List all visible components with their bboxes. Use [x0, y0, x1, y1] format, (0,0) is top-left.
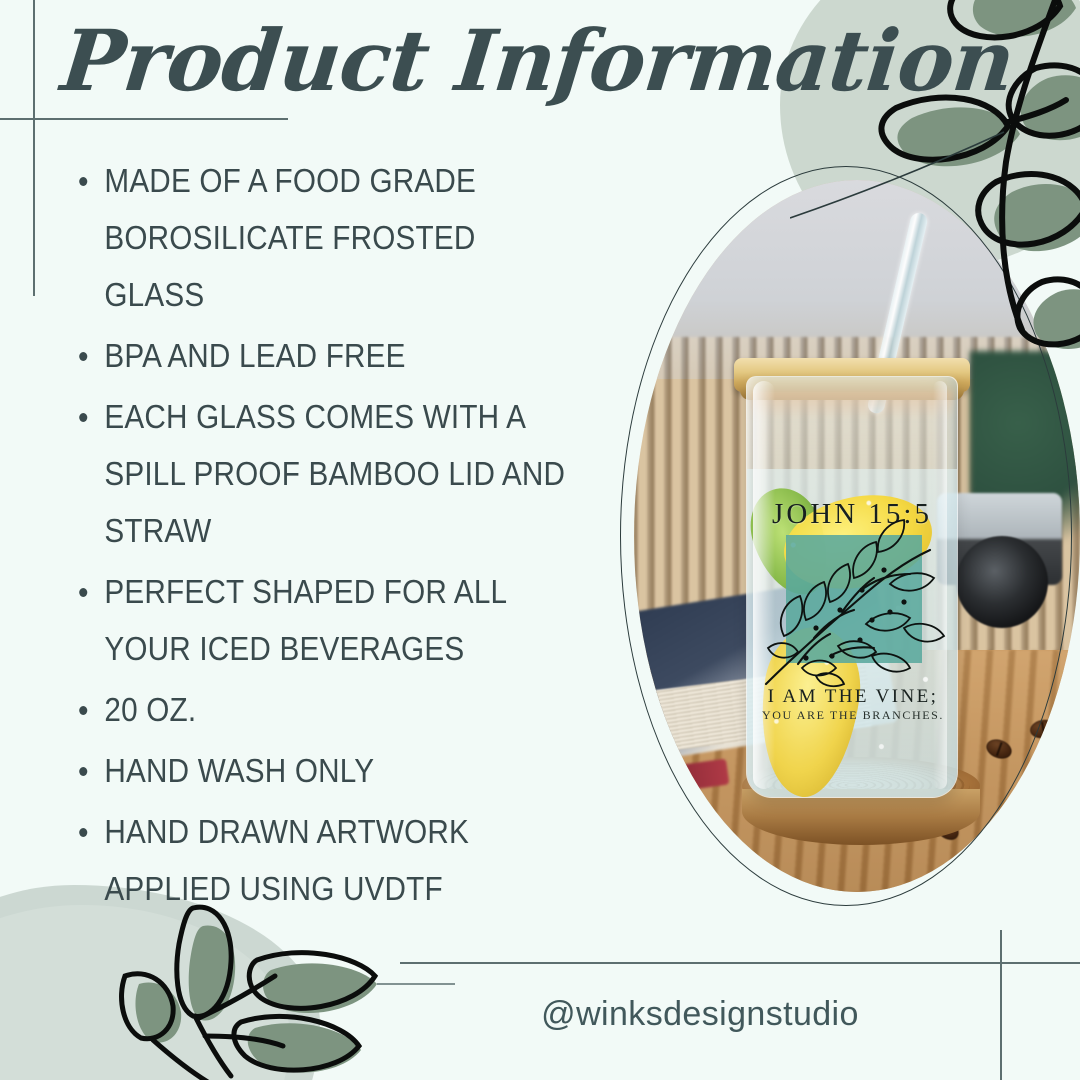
- photo-camera-lens: [956, 536, 1048, 628]
- rule-horizontal-bottom: [400, 962, 1080, 964]
- leaf-decoration-top-right: [790, 0, 1080, 382]
- social-handle: @winksdesignstudio: [400, 995, 1000, 1034]
- list-item: EACH GLASS COMES WITH A SPILL PROOF BAMB…: [72, 388, 576, 559]
- list-item: MADE OF A FOOD GRADE BOROSILICATE FROSTE…: [72, 152, 576, 323]
- rule-vertical-bottom-right: [1000, 930, 1002, 1080]
- decal-verse-line-1: I AM THE VINE;: [750, 686, 956, 708]
- poster-canvas: Product Information MADE OF A FOOD GRADE…: [0, 0, 1080, 1080]
- list-item: BPA AND LEAD FREE: [72, 327, 576, 384]
- leaf-decoration-bottom-left: [95, 880, 455, 1080]
- list-item: PERFECT SHAPED FOR ALL YOUR ICED BEVERAG…: [72, 563, 576, 677]
- feature-list: MADE OF A FOOD GRADE BOROSILICATE FROSTE…: [72, 152, 632, 921]
- list-item: HAND WASH ONLY: [72, 742, 576, 799]
- page-title: Product Information: [56, 6, 788, 116]
- list-item: 20 OZ.: [72, 681, 576, 738]
- decal-verse-line-2: YOU ARE THE BRANCHES.: [750, 708, 956, 723]
- botanical-branch-icon: [754, 516, 959, 691]
- rule-vertical-top-left: [33, 0, 35, 296]
- rule-horizontal-top-left: [0, 118, 288, 120]
